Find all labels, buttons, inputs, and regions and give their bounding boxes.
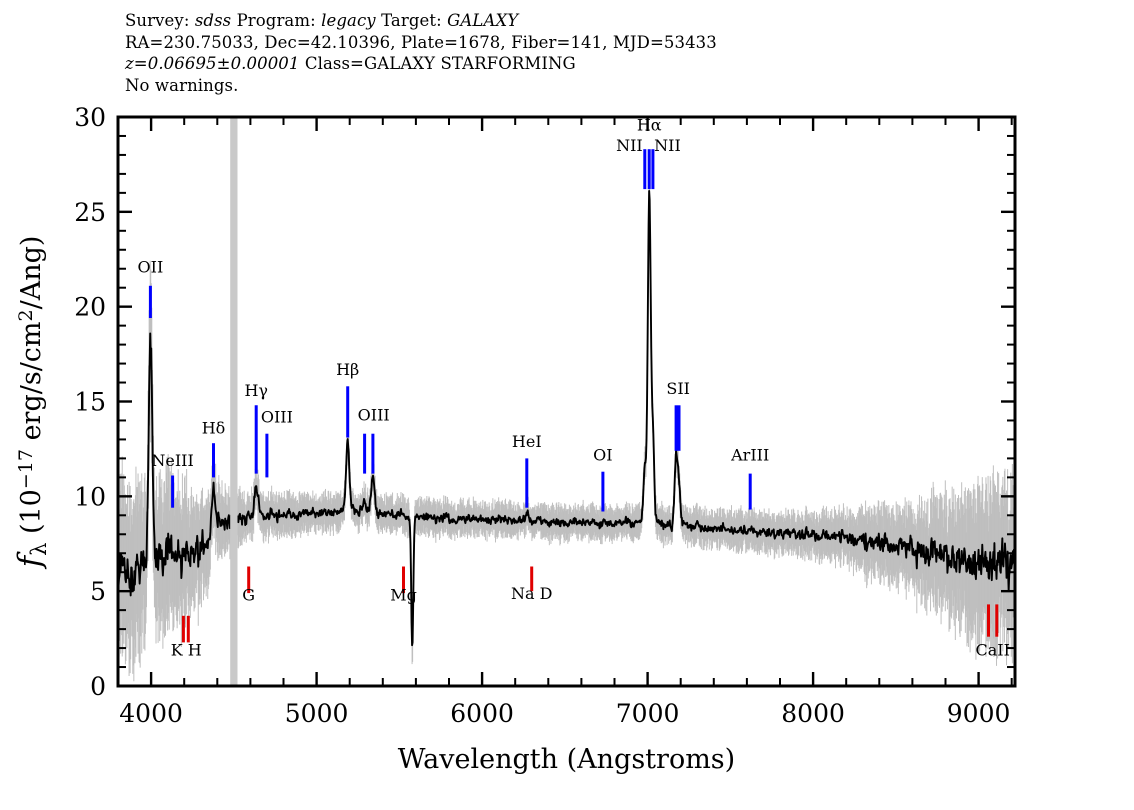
spectrum-viewer: Survey: sdss Program: legacy Target: GAL… xyxy=(0,0,1134,810)
x-axis-title[interactable]: Wavelength (Angstroms) xyxy=(398,744,735,775)
absorption-label-CaII-4[interactable]: CaII xyxy=(975,641,1009,660)
absorption-label-KH-0[interactable]: K H xyxy=(171,641,202,660)
emission-label-OII-0[interactable]: OII xyxy=(138,258,164,277)
mask-band-0[interactable] xyxy=(230,117,237,686)
emission-label-SII-12[interactable]: SII xyxy=(666,379,690,398)
y-tick-label-5[interactable]: 25 xyxy=(74,198,106,227)
spectrum-plot: OIINeIIIHδHγOIIIHβOIIIHeIOIHαNIINIISIIAr… xyxy=(0,0,1134,810)
x-tick-label-4[interactable]: 8000 xyxy=(781,699,845,728)
emission-label-OIII-6[interactable]: OIII xyxy=(358,406,390,425)
absorption-label-NaD-3[interactable]: Na D xyxy=(511,584,552,603)
y-tick-label-2[interactable]: 10 xyxy=(74,482,106,511)
emission-label-OIII-4[interactable]: OIII xyxy=(261,407,293,426)
emission-label-OI-8[interactable]: OI xyxy=(593,445,612,464)
y-tick-label-6[interactable]: 30 xyxy=(74,103,106,132)
emission-label-ArIII-13[interactable]: ArIII xyxy=(730,445,769,464)
x-axis[interactable]: 400050006000700080009000Wavelength (Angs… xyxy=(118,117,1012,775)
spectrum-svg: OIINeIIIHδHγOIIIHβOIIIHeIOIHαNIINIISIIAr… xyxy=(0,0,1134,810)
emission-label-Hγ-3[interactable]: Hγ xyxy=(244,381,268,400)
y-tick-label-0[interactable]: 0 xyxy=(90,672,106,701)
y-tick-label-3[interactable]: 15 xyxy=(74,388,106,417)
emission-label-Hβ-5[interactable]: Hβ xyxy=(336,360,359,379)
x-tick-label-0[interactable]: 4000 xyxy=(119,699,183,728)
x-tick-label-3[interactable]: 7000 xyxy=(616,699,680,728)
emission-label-NeIII-1[interactable]: NeIII xyxy=(151,451,193,470)
emission-label-NII-11[interactable]: NII xyxy=(654,136,681,155)
y-axis-title[interactable]: fλ (10−17 erg/s/cm2/Ang) xyxy=(12,236,51,570)
x-tick-label-1[interactable]: 5000 xyxy=(285,699,349,728)
absorption-label-G-1[interactable]: G xyxy=(242,586,255,605)
y-tick-label-1[interactable]: 5 xyxy=(90,577,106,606)
emission-label-Hδ-2[interactable]: Hδ xyxy=(202,419,226,438)
x-tick-label-5[interactable]: 9000 xyxy=(947,699,1011,728)
emission-label-HeI-7[interactable]: HeI xyxy=(512,432,542,451)
emission-label-NII-10[interactable]: NII xyxy=(616,136,643,155)
x-tick-label-2[interactable]: 6000 xyxy=(450,699,514,728)
absorption-label-Mg-2[interactable]: Mg xyxy=(390,586,417,605)
error-envelope[interactable] xyxy=(118,175,1015,682)
y-tick-label-4[interactable]: 20 xyxy=(74,293,106,322)
